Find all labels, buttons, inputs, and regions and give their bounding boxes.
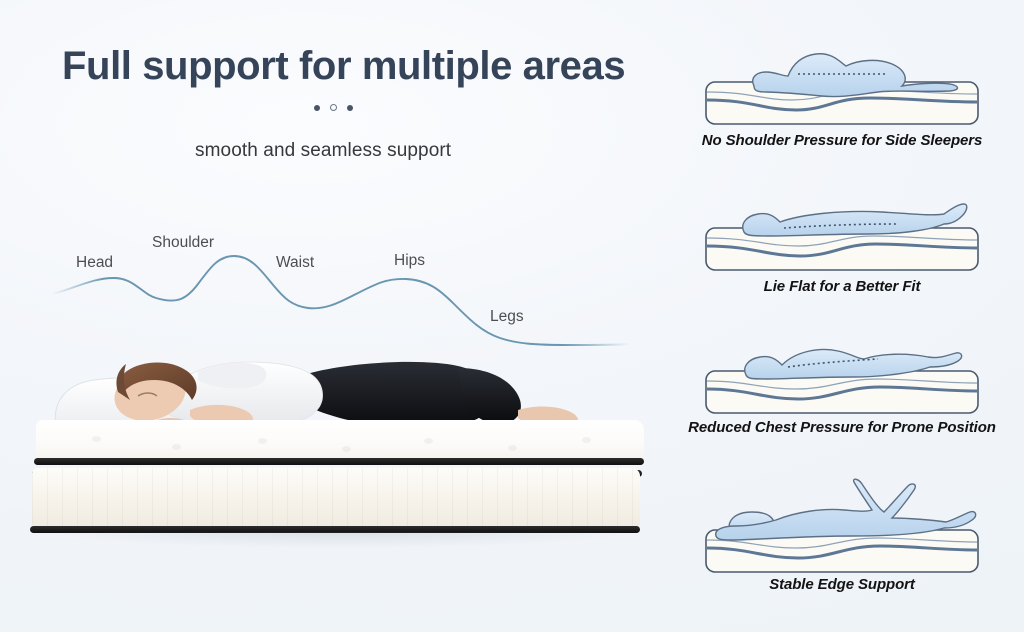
- contour-label-hips: Hips: [394, 252, 425, 270]
- panel-caption: Stable Edge Support: [666, 576, 1018, 593]
- panel-edge-support: Stable Edge Support: [666, 478, 1018, 593]
- dot-divider: [314, 104, 353, 111]
- supine-figure: [692, 186, 992, 278]
- side-sleeper-figure: [692, 36, 992, 132]
- quilt-dot: [258, 438, 267, 444]
- contour-label-shoulder: Shoulder: [152, 234, 214, 252]
- panel-caption: Lie Flat for a Better Fit: [666, 278, 1018, 295]
- mattress-side-panel: [32, 468, 640, 530]
- panel-caption: Reduced Chest Pressure for Prone Positio…: [666, 419, 1018, 436]
- prone-figure: [692, 327, 992, 419]
- divider-ring-center: [330, 104, 337, 111]
- quilt-dot: [424, 438, 433, 444]
- body-silhouette: [753, 54, 958, 97]
- divider-dot-right: [347, 105, 353, 111]
- mattress-photo-scene: [22, 318, 648, 558]
- quilt-dot: [582, 437, 591, 443]
- divider-dot-left: [314, 105, 320, 111]
- panel-caption: No Shoulder Pressure for Side Sleepers: [666, 132, 1018, 149]
- contour-label-waist: Waist: [276, 254, 314, 272]
- panel-side-sleeper: No Shoulder Pressure for Side Sleepers: [666, 36, 1018, 149]
- quilt-dot: [508, 445, 517, 451]
- quilt-dot: [92, 436, 101, 442]
- mattress-piping-top: [34, 458, 644, 465]
- panel-lie-flat: Lie Flat for a Better Fit: [666, 186, 1018, 295]
- infographic-page: Full support for multiple areas smooth a…: [0, 0, 1024, 632]
- quilt-dot: [172, 444, 181, 450]
- quilt-dot: [342, 446, 351, 452]
- page-title: Full support for multiple areas: [62, 44, 625, 89]
- knees-up-edge-figure: [692, 478, 992, 576]
- contour-label-head: Head: [76, 254, 113, 272]
- panel-prone: Reduced Chest Pressure for Prone Positio…: [666, 327, 1018, 436]
- mattress-shadow: [48, 532, 632, 548]
- page-subtitle: smooth and seamless support: [195, 140, 451, 162]
